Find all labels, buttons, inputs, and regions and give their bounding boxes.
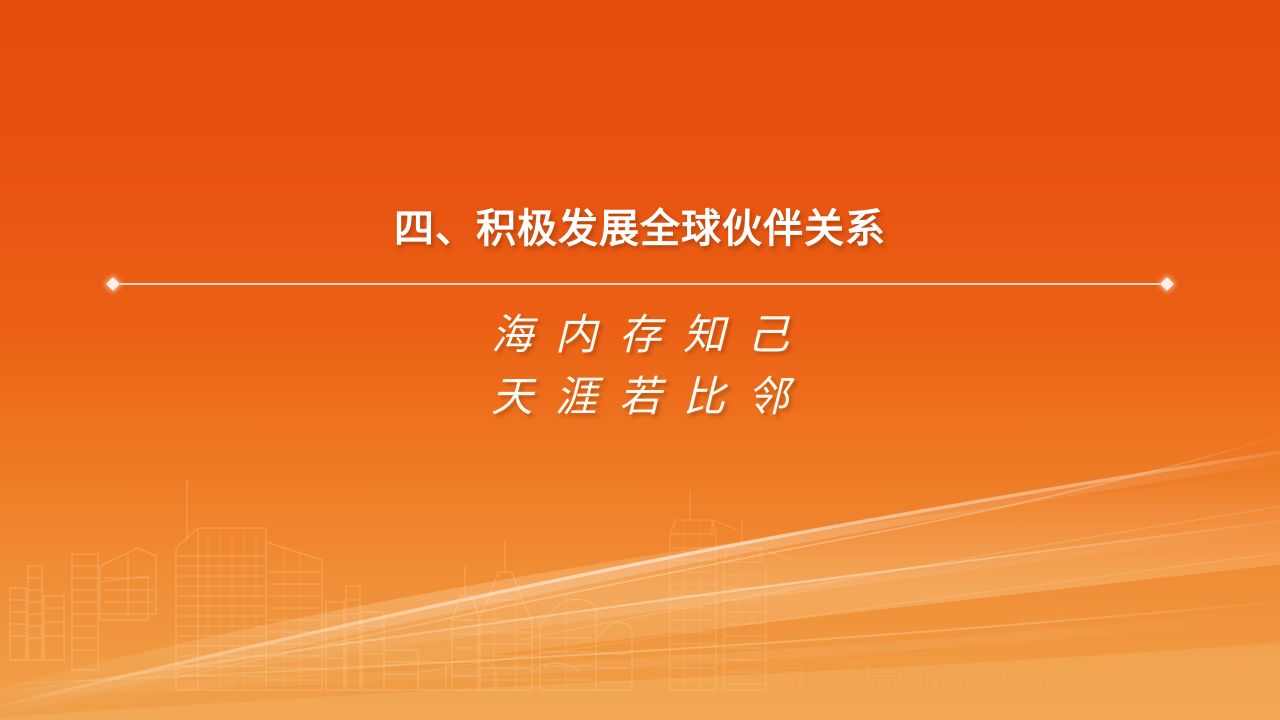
- poem-block: 海内存知己 天涯若比邻: [0, 304, 1280, 428]
- diamond-left-icon: [106, 277, 120, 291]
- divider-line: [120, 283, 1160, 285]
- poem-line-2: 天涯若比邻: [0, 366, 1280, 428]
- section-divider: [112, 283, 1168, 285]
- presentation-slide: 四、积极发展全球伙伴关系 海内存知己 天涯若比邻: [0, 0, 1280, 720]
- title-block: 四、积极发展全球伙伴关系: [0, 205, 1280, 253]
- page-title: 四、积极发展全球伙伴关系: [0, 205, 1280, 253]
- diamond-right-icon: [1160, 277, 1174, 291]
- poem-line-1: 海内存知己: [0, 304, 1280, 366]
